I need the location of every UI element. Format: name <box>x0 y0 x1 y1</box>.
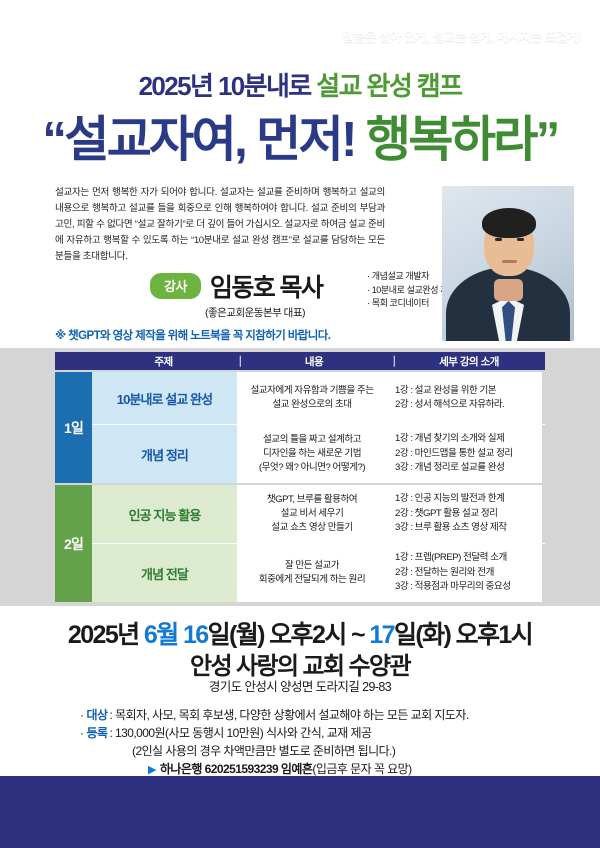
triangle-bullet-icon: ▶ <box>148 764 156 776</box>
event-date-month: 6월 <box>144 621 183 649</box>
laptop-notice: ※ 챗GPT와 영상 제작을 위해 노트북을 꼭 지참하기 바랍니다. <box>55 327 330 343</box>
cell-content: 잘 만든 설교가회중에게 전달되게 하는 원리 <box>237 544 387 602</box>
day-rows: 10분내로 설교 완성 설교자에게 자유함과 기쁨을 주는설교 완성으로의 초대… <box>92 372 545 483</box>
speaker-name: 임동호 목사 <box>210 268 322 304</box>
cell-detail: 1강 : 인공 지능의 발전과 한계2강 : 챗GPT 활용 설교 정리3강 :… <box>387 485 542 543</box>
day-label: 2일 <box>55 485 92 602</box>
bank-account-number: 하나은행 620251593239 임예흔 <box>160 762 313 776</box>
schedule-day-group-1: 1일 10분내로 설교 완성 설교자에게 자유함과 기쁨을 주는설교 완성으로의… <box>55 372 545 483</box>
header-tagline: 말씀은 살아 있게, 설교는 쉽게, 메시지는 뜨겁게! <box>343 26 582 45</box>
footer-decoration <box>0 776 600 848</box>
table-row: 개념 전달 잘 만든 설교가회중에게 전달되게 하는 원리 1강 : 프렙(PR… <box>92 544 545 602</box>
event-date-year: 2025년 <box>68 621 144 649</box>
cell-topic: 10분내로 설교 완성 <box>92 372 237 424</box>
cell-detail: 1강 : 프렙(PREP) 전달력 소개2강 : 전달하는 원리와 전개3강 :… <box>387 544 542 602</box>
registration-note: (2인실 사용의 경우 차액만큼만 별도로 준비하면 됩니다.) <box>80 742 550 760</box>
cell-content: 설교자에게 자유함과 기쁨을 주는설교 완성으로의 초대 <box>237 372 387 424</box>
info-key: 등록 <box>86 724 107 742</box>
poster-canvas: 말씀은 살아 있게, 설교는 쉽게, 메시지는 뜨겁게! 2025년 10분내로… <box>0 0 600 848</box>
intro-paragraph: 설교자는 먼저 행복한 자가 되어야 합니다. 설교자는 설교를 준비하며 행복… <box>55 185 385 265</box>
day-rows: 인공 지능 활용 챗GPT, 브루를 활용하여설교 비서 세우기설교 쇼츠 영상… <box>92 485 545 602</box>
photo-mouth <box>502 260 517 263</box>
column-header-detail: 세부 강의 소개 <box>393 354 545 369</box>
photo-hair <box>482 208 536 238</box>
speaker-badge: 강사 <box>150 273 201 299</box>
table-row: 10분내로 설교 완성 설교자에게 자유함과 기쁨을 주는설교 완성으로의 초대… <box>92 372 545 425</box>
cell-topic: 인공 지능 활용 <box>92 485 237 543</box>
day-label: 1일 <box>55 372 92 483</box>
list-item: · 대상 : 목회자, 사모, 목회 후보생, 다양한 상황에서 설교해야 하는… <box>80 706 550 724</box>
campaign-title-line1-navy: 2025년 10분내로 <box>139 71 317 101</box>
event-date-day-end: 17 <box>369 621 394 649</box>
cell-topic: 개념 정리 <box>92 425 237 483</box>
bullet-dot-icon: · <box>80 724 83 742</box>
photo-eye-right <box>517 238 524 241</box>
campaign-title-line1-green: 설교 완성 캠프 <box>316 71 461 101</box>
schedule-table: 주제 ｜ 내용 ｜ 세부 강의 소개 1일 10분내로 설교 완성 설교자에게 … <box>55 352 545 602</box>
campaign-title-line2-navy: “설교자여, 먼저! <box>42 113 366 167</box>
schedule-day-group-2: 2일 인공 지능 활용 챗GPT, 브루를 활용하여설교 비서 세우기설교 쇼츠… <box>55 485 545 602</box>
info-value: : 목회자, 사모, 목회 후보생, 다양한 상황에서 설교해야 하는 모든 교… <box>109 706 468 724</box>
event-address: 경기도 안성시 양성면 도라지길 29-83 <box>0 676 600 695</box>
cell-detail: 1강 : 개념 찾기의 소개와 실제2강 : 마인드맵을 통한 설교 정리3강 … <box>387 425 542 483</box>
info-key: 대상 <box>86 706 107 724</box>
bullet-dot-icon: · <box>80 706 83 724</box>
event-date-tail: 일(화) 오후1시 <box>394 621 532 649</box>
photo-neck <box>494 279 523 301</box>
cell-topic: 개념 전달 <box>92 544 237 602</box>
schedule-table-header: 주제 ｜ 내용 ｜ 세부 강의 소개 <box>55 352 545 370</box>
info-value: : 130,000원(사모 동행시 10만원) 식사와 간식, 교재 제공 <box>109 724 371 742</box>
table-row: 개념 정리 설교의 틀을 짜고 설계하고디자인을 하는 새로운 기법(무엇? 왜… <box>92 425 545 483</box>
cell-content: 설교의 틀을 짜고 설계하고디자인을 하는 새로운 기법(무엇? 왜? 아니면?… <box>237 425 387 483</box>
speaker-organization: (좋은교회운동본부 대표) <box>150 305 360 320</box>
photo-eye-left <box>495 238 502 241</box>
campaign-title-line1: 2025년 10분내로 설교 완성 캠프 <box>0 66 600 103</box>
table-row: 인공 지능 활용 챗GPT, 브루를 활용하여설교 비서 세우기설교 쇼츠 영상… <box>92 485 545 544</box>
bank-account-note: (입금후 문자 꼭 요망) <box>312 762 411 776</box>
list-item: · 등록 : 130,000원(사모 동행시 10만원) 식사와 간식, 교재 … <box>80 724 550 742</box>
event-date-day-start: 16 <box>183 621 208 649</box>
footer-shape-navy <box>0 776 600 848</box>
campaign-title-line2: “설교자여, 먼저! 행복하라” <box>0 100 600 171</box>
column-header-topic: 주제 <box>92 354 235 369</box>
column-header-content: 내용 <box>239 354 389 369</box>
campaign-title-line2-green: 행복하라” <box>366 113 558 167</box>
cell-content: 챗GPT, 브루를 활용하여설교 비서 세우기설교 쇼츠 영상 만들기 <box>237 485 387 543</box>
speaker-photo <box>442 186 574 341</box>
event-date-mid: 일(월) 오후2시 ~ <box>208 621 370 649</box>
cell-detail: 1강 : 설교 완성을 위한 기본2강 : 성서 해석으로 자유하라. <box>387 372 542 424</box>
